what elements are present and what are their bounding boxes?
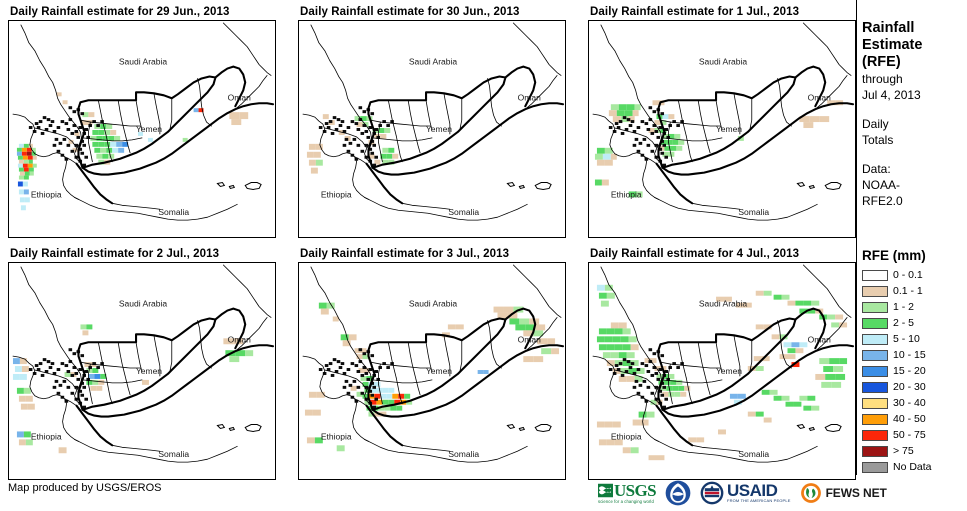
panel-2-title: Daily Rainfall estimate for 30 Jun., 201… [298,4,566,20]
rainfall-cell [603,352,611,358]
rainfall-cell [607,360,615,366]
islands [507,183,551,190]
country-label: Yemen [426,124,452,134]
rainfall-cell [519,318,529,324]
legend-item: > 75 [862,443,965,459]
legend-title: RFE (mm) [862,248,965,263]
terrain-pixel [374,156,378,159]
terrain-pixel [80,354,84,357]
terrain-pixel [662,386,666,389]
terrain-pixel [386,124,390,127]
map-svg-6: Saudi ArabiaOmanYemenEthiopiaSomalia [589,263,855,479]
terrain-pixel [319,368,323,371]
legend-rows: 0 - 0.10.1 - 11 - 22 - 55 - 1010 - 1515 … [862,267,965,475]
rainfall-cell [239,112,248,119]
panel-4-map[interactable]: Saudi ArabiaOmanYemenEthiopiaSomalia [8,262,276,480]
rainfall-cell [619,104,627,110]
rainfall-cell [595,180,602,186]
rainfall-cell [503,307,513,313]
coastline-path [112,445,160,451]
coastline-path [778,78,792,126]
panel-5[interactable]: Daily Rainfall estimate for 3 Jul., 2013… [298,246,566,480]
rainfall-cell [456,324,464,329]
terrain-pixel [357,128,361,131]
rainfall-cell [22,148,27,152]
rainfall-cell [24,431,31,437]
rainfall-cell [231,119,241,125]
terrain-pixel [69,348,73,351]
somalia-ethiopia-border [656,406,692,446]
rainfall-cell [631,447,639,453]
rainfall-cell [509,318,519,324]
rainfall-cell [599,344,607,350]
rainfall-cell [668,392,674,397]
rainfall-cell [627,376,635,382]
terrain-pixel [325,364,329,367]
rainfall-cell [803,301,811,306]
terrain-pixel [649,106,653,109]
rainfall-cell [307,152,314,158]
rainfall-cell [611,104,619,110]
admin-boundary-path [98,342,106,378]
terrain-pixel [629,366,633,369]
usaid-seal-icon [700,481,724,505]
country-labels: Saudi ArabiaOmanYemenEthiopiaSomalia [611,57,831,218]
legend-label: 30 - 40 [893,398,926,409]
country-label: Oman [228,334,251,344]
rainfall-cell [788,301,796,306]
rainfall-cell [774,396,782,401]
terrain-pixel [631,362,635,365]
terrain-pixel [345,138,349,141]
rainfall-cell [100,148,106,153]
terrain-pixel [29,368,33,371]
rainfall-cell [795,348,803,353]
country-label: Ethiopia [321,189,352,199]
panel-3-map[interactable]: Saudi ArabiaOmanYemenEthiopiaSomalia [588,20,856,238]
terrain-pixel [41,132,45,135]
terrain-pixel [363,110,367,113]
title-line-estimate: Estimate [862,37,965,54]
rainfall-cell [607,344,615,350]
rainfall-cell [597,336,605,342]
admin-boundary-path [460,340,462,372]
legend-label: 2 - 5 [893,318,914,329]
terrain-pixel [651,374,655,377]
panel-3-title: Daily Rainfall estimate for 1 Jul., 2013 [588,4,856,20]
island-path [809,185,814,188]
rainfall-cell [615,328,623,334]
yemen-border [78,318,215,409]
panel-5-map[interactable]: Saudi ArabiaOmanYemenEthiopiaSomalia [298,262,566,480]
rainfall-cell [86,324,92,329]
legend-swatch [862,334,888,345]
island-path [245,183,261,190]
terrain-pixel [365,372,369,375]
terrain-pixel [637,368,641,371]
rainfall-cell [623,328,631,334]
rainfall-cell [80,324,86,329]
terrain-pixel [656,136,660,139]
terrain-pixel [41,374,45,377]
country-label: Ethiopia [611,431,642,441]
terrain-pixel [29,126,33,129]
terrain-pixel [329,362,333,365]
terrain-pixel [73,352,77,355]
panel-2-map[interactable]: Saudi ArabiaOmanYemenEthiopiaSomalia [298,20,566,238]
rainfall-cell [625,110,633,116]
logo-strip: USGS science for a changing world USAID … [598,478,887,508]
terrain-pixel [80,112,84,115]
rainfall-cell [94,148,100,153]
rainfall-cell [756,366,764,371]
panel-6-map[interactable]: Saudi ArabiaOmanYemenEthiopiaSomalia [588,262,856,480]
admin-boundary-path [388,342,396,378]
terrain-pixel [84,156,88,159]
rainfall-cell [478,370,484,374]
terrain-pixel [43,116,47,119]
terrain-pixel [51,120,55,123]
terrain-pixel [676,366,680,369]
rainfall-cell [19,160,24,164]
legend-swatch [862,286,888,297]
rainfall-cell [28,404,35,410]
terrain-pixel [71,392,75,395]
terrain-pixel [341,362,345,365]
title-spacer-1 [862,103,965,116]
rainfall-cell [599,328,607,334]
terrain-pixel [355,364,359,367]
rainfall-cell [142,380,149,385]
legend-label: > 75 [893,446,914,457]
country-labels: Saudi ArabiaOmanYemenEthiopiaSomalia [321,299,541,460]
terrain-pixel [96,366,100,369]
island-path [535,183,551,190]
rainfall-cell [609,110,617,116]
admin-boundary-path [118,342,126,380]
somalia-ethiopia-border [366,406,402,446]
rainfall-cell [803,122,813,128]
terrain-pixel [347,392,351,395]
rainfall-cell [388,148,394,153]
country-label: Saudi Arabia [119,299,168,309]
rainfall-cell [756,324,764,329]
rainfall-cell [815,374,825,380]
rainfall-cell [321,309,329,315]
rainfall-cell [672,386,678,391]
island-path [519,185,524,188]
rainfall-cell [382,388,388,393]
rainfall-cell [793,402,801,407]
country-labels: Saudi ArabiaOmanYemenEthiopiaSomalia [321,57,541,218]
legend-item: 0 - 0.1 [862,267,965,283]
country-label: Somalia [448,449,479,459]
usgs-tagline: science for a changing world [598,499,656,504]
rainfall-cell [386,154,392,159]
rainfall-cell [809,116,819,122]
legend-item: 5 - 10 [862,331,965,347]
rainfall-cell [17,388,24,394]
usgs-logo[interactable]: USGS science for a changing world [598,483,656,504]
terrain-pixel [370,112,374,115]
rainfall-cell [535,324,545,330]
legend-swatch [862,350,888,361]
legend-item: 40 - 50 [862,411,965,427]
terrain-pixel [641,120,645,123]
terrain-pixel [353,380,357,383]
terrain-pixel [339,124,343,127]
rainfall-cell [25,172,30,176]
rainfall-cell [615,344,623,350]
terrain-pixel [75,130,79,133]
rainfall-cell [762,390,770,395]
rainfall-cell [24,176,29,180]
terrain-pixel [361,150,365,153]
rainfall-cell [96,154,102,159]
noaa-logo-icon[interactable] [665,480,691,506]
rainfall-cell [605,160,613,166]
terrain-pixel [363,352,367,355]
admin-boundary-path [408,342,416,380]
terrain-pixel [609,368,613,371]
country-label: Oman [808,334,831,344]
terrain-pixel [372,144,376,147]
panel-6[interactable]: Daily Rainfall estimate for 4 Jul., 2013… [588,246,856,480]
coastline-path [488,320,502,368]
title-line-totals: Totals [862,132,965,148]
panel-4[interactable]: Daily Rainfall estimate for 2 Jul., 2013… [8,246,276,480]
island-path [809,427,814,430]
legend-item: 2 - 5 [862,315,965,331]
panel-6-title: Daily Rainfall estimate for 4 Jul., 2013 [588,246,856,262]
admin-boundary-path [88,122,92,162]
terrain-pixel [333,116,337,119]
rainfall-cell [25,197,30,202]
rainfall-cell [112,148,118,153]
terrain-pixel [82,144,86,147]
rainfall-cell [718,429,726,434]
country-label: Somalia [448,207,479,217]
terrain-pixel [49,124,53,127]
terrain-pixel [53,386,57,389]
rainfall-cell [398,394,404,399]
fews-net-logo[interactable]: FEWS NET [800,482,887,504]
rainfall-cell [245,350,253,356]
panel-3[interactable]: Daily Rainfall estimate for 1 Jul., 2013… [588,4,856,238]
admin-boundary-path [686,136,692,162]
rainfall-cell [533,356,543,362]
map-svg-3: Saudi ArabiaOmanYemenEthiopiaSomalia [589,21,855,237]
country-label: Somalia [738,449,769,459]
rainfall-cell [611,352,619,358]
rainfall-cell [772,334,780,339]
rainfall-cell [390,406,396,411]
rainfall-cell [26,396,33,402]
country-label: Ethiopia [31,189,62,199]
legend-item: 15 - 20 [862,363,965,379]
terrain-pixel [80,394,84,397]
fews-globe-icon [800,482,822,504]
country-label: Yemen [716,366,742,376]
rainfall-cell [597,422,605,428]
admin-boundary-path [686,378,692,404]
rainfall-cell [309,144,316,150]
rainfall-cell [633,110,639,116]
admin-boundary-path [750,98,752,130]
rainfall-cell [118,148,124,153]
panel-1-map[interactable]: Saudi ArabiaOmanYemenEthiopiaSomalia [8,20,276,238]
terrain-pixel [635,138,639,141]
terrain-pixel [55,380,59,383]
coastline-path [198,78,212,126]
terrain-pixel [337,360,341,363]
admin-boundary-path [170,98,172,130]
terrain-pixel [71,374,75,377]
terrain-pixel [643,138,647,141]
terrain-pixel [619,362,623,365]
rainfall-cell [19,439,26,445]
terrain-pixel [357,370,361,373]
rainfall-cell [27,152,32,156]
rainfall-cell [611,322,619,328]
rainfall-cell [678,140,684,145]
panel-2[interactable]: Daily Rainfall estimate for 30 Jun., 201… [298,4,566,238]
terrain-pixel [621,132,625,135]
rainfall-cell [21,404,28,410]
rainfall-cell [316,160,323,166]
rainfall-cell [305,410,313,416]
terrain-pixel [71,132,75,135]
terrain-pixel [339,366,343,369]
legend-swatch [862,446,888,457]
somalia-ethiopia-border [656,164,692,204]
terrain-pixel [349,142,353,145]
terrain-pixel [660,354,664,357]
legend-swatch [862,270,888,281]
rainfall-cell [106,124,112,129]
terrain-pixel [57,126,61,129]
terrain-pixel [366,136,370,139]
panel-1[interactable]: Daily Rainfall estimate for 29 Jun., 201… [8,4,276,238]
rainfall-cell [676,146,682,151]
legend-swatch [862,366,888,377]
terrain-pixel [374,398,378,401]
rainfall-cell [756,291,764,296]
rainfall-cell [384,128,390,133]
rainfall-cell [551,348,559,354]
island-path [797,183,804,187]
terrain-pixel [655,372,659,375]
terrain-pixel [660,112,664,115]
rainfall-cell [782,295,790,300]
terrain-pixel [331,132,335,135]
island-path [507,425,514,429]
rainfall-cell [515,324,525,330]
terrain-pixel [61,362,65,365]
rainfall-cell [307,437,315,443]
terrain-pixel [639,384,643,387]
somalia-ethiopia-border [76,164,112,204]
country-label: Ethiopia [31,431,62,441]
rainfall-cell [59,447,67,453]
rainfall-cell [17,431,24,437]
rainfall-cell [63,100,68,104]
coastline-path [402,203,450,209]
terrain-pixel [84,398,88,401]
legend-label: 50 - 75 [893,430,926,441]
legend-swatch [862,414,888,425]
title-line-noaa: NOAA- [862,177,965,193]
rainfall-cell [24,388,31,394]
rainfall-cell [835,374,845,380]
coastline-path [488,78,502,126]
rainfall-cell [30,172,34,176]
terrain-pixel [637,392,641,395]
island-path [245,425,261,432]
terrain-pixel [645,364,649,367]
terrain-pixel [47,360,51,363]
legend-swatch [862,462,888,473]
rainfall-cell [672,140,678,145]
terrain-pixel [633,386,637,389]
rainfall-cell [17,152,22,156]
rainfall-cell [92,130,98,135]
rainfall-cell [24,144,29,148]
country-label: Yemen [136,124,162,134]
rainfall-cell [18,182,23,187]
terrain-pixel [635,380,639,383]
yemen-border [658,76,795,167]
rainfall-cell [382,148,388,153]
terrain-pixel [662,144,666,147]
rainfall-cell [319,303,327,309]
rainfall-cell [641,420,649,426]
rainfall-cell [696,437,704,442]
rainfall-cell [784,342,792,347]
map-svg-1: Saudi ArabiaOmanYemenEthiopiaSomalia [9,21,275,237]
admin-boundary-path [372,380,432,383]
coastline-path [198,320,212,368]
country-label: Oman [518,334,541,344]
rainfall-cell [603,154,611,160]
rainfall-cell [670,146,676,151]
country-label: Somalia [158,449,189,459]
legend-swatch [862,430,888,441]
terrain-pixel [361,374,365,377]
terrain-pixel [637,126,641,129]
rainfall-cell [18,156,23,160]
arabian-south-coast [372,103,563,174]
terrain-pixel [325,122,329,125]
island-path [507,183,514,187]
rainfall-cell [13,358,20,364]
legend-swatch [862,398,888,409]
island-path [535,425,551,432]
title-line-data: Data: [862,161,965,177]
terrain-pixel [353,138,357,141]
somalia-ethiopia-border [76,406,112,446]
rainfall-cell [811,301,819,306]
rainfall-cell [819,116,829,122]
usaid-logo[interactable]: USAID FROM THE AMERICAN PEOPLE [700,481,791,505]
rainfall-cell [597,148,605,154]
terrain-pixel [39,120,43,123]
rainfall-cell [786,402,794,407]
rainfall-cell [730,394,738,399]
terrain-pixel [370,354,374,357]
rainfall-cell [819,358,829,364]
terrain-pixel [67,128,71,131]
